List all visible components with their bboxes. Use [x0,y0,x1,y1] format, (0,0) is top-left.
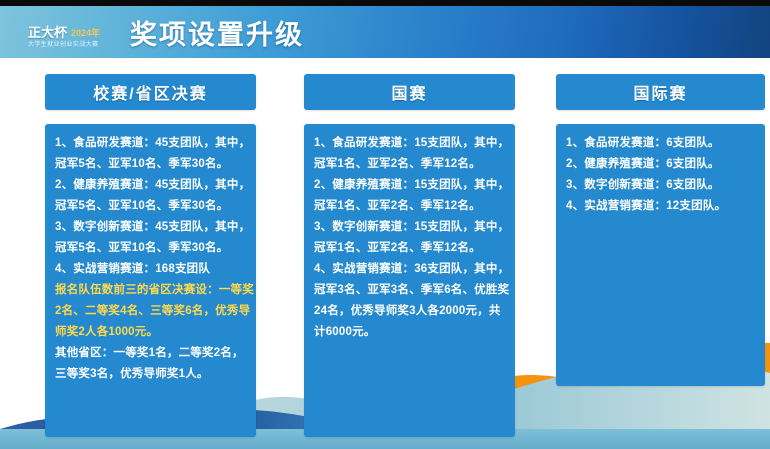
logo-primary-row: 正大杯 2024年 [28,25,124,40]
award-line: 4、实战营销赛道：168支团队 [55,259,246,280]
column-body-international: 1、食品研发赛道：6支团队。 2、健康养殖赛道：6支团队。 3、数字创新赛道：6… [556,124,765,386]
award-line: 4、实战营销赛道：36支团队，其中， [314,259,505,280]
column-heading-label: 国际赛 [633,80,687,104]
award-line: 3、数字创新赛道：6支团队。 [566,175,755,196]
award-columns: 校赛/省区决赛 1、食品研发赛道：45支团队，其中， 冠军5名、亚军10名、季军… [0,58,770,449]
award-line: 冠军3名、亚军3名、季军6名、优胜奖 [314,280,505,301]
award-line: 1、食品研发赛道：6支团队。 [566,133,755,154]
competition-logo: 正大杯 2024年 大学生就业创业实战大赛 [28,20,124,54]
award-line: 冠军5名、亚军10名、季军30名。 [55,238,246,259]
award-line: 冠军5名、亚军10名、季军30名。 [55,196,246,217]
logo-subtitle-text: 大学生就业创业实战大赛 [28,41,124,50]
award-line: 4、实战营销赛道：12支团队。 [566,196,755,217]
slide-header-band: 正大杯 2024年 大学生就业创业实战大赛 奖项设置升级 [0,6,770,58]
award-line: 1、食品研发赛道：15支团队，其中， [314,133,505,154]
slide-body: 校赛/省区决赛 1、食品研发赛道：45支团队，其中， 冠军5名、亚军10名、季军… [0,58,770,449]
column-heading-international: 国际赛 [556,74,765,110]
award-line-highlight: 师奖2人各1000元。 [55,322,246,343]
column-heading-school-province: 校赛/省区决赛 [45,74,256,110]
column-body-school-province: 1、食品研发赛道：45支团队，其中， 冠军5名、亚军10名、季军30名。 2、健… [45,124,256,437]
award-line: 2、健康养殖赛道：15支团队，其中， [314,175,505,196]
column-heading-label: 校赛/省区决赛 [93,80,207,104]
award-line: 冠军1名、亚军2名、季军12名。 [314,196,505,217]
logo-main-text: 正大杯 [28,25,67,40]
logo-year-text: 2024年 [71,28,100,40]
award-line: 1、食品研发赛道：45支团队，其中， [55,133,246,154]
award-line: 2、健康养殖赛道：45支团队，其中， [55,175,246,196]
column-school-province: 校赛/省区决赛 1、食品研发赛道：45支团队，其中， 冠军5名、亚军10名、季军… [45,74,256,437]
page-title: 奖项设置升级 [130,18,304,52]
award-line: 计6000元。 [314,322,505,343]
award-line: 其他省区：一等奖1名，二等奖2名， [55,343,246,364]
column-national: 国赛 1、食品研发赛道：15支团队，其中， 冠军1名、亚军2名、季军12名。 2… [304,74,515,437]
column-body-national: 1、食品研发赛道：15支团队，其中， 冠军1名、亚军2名、季军12名。 2、健康… [304,124,515,437]
award-line: 冠军1名、亚军2名、季军12名。 [314,154,505,175]
award-line: 3、数字创新赛道：15支团队，其中， [314,217,505,238]
slide-canvas: 正大杯 2024年 大学生就业创业实战大赛 奖项设置升级 [0,0,770,449]
award-line-highlight: 2名、二等奖4名、三等奖6名，优秀导 [55,301,246,322]
award-line: 2、健康养殖赛道：6支团队。 [566,154,755,175]
award-line: 三等奖3名，优秀导师奖1人。 [55,364,246,385]
column-international: 国际赛 1、食品研发赛道：6支团队。 2、健康养殖赛道：6支团队。 3、数字创新… [556,74,765,386]
award-line: 冠军5名、亚军10名、季军30名。 [55,154,246,175]
column-heading-national: 国赛 [304,74,515,110]
award-line-highlight: 报名队伍数前三的省区决赛设：一等奖 [55,280,246,301]
award-line: 24名，优秀导师奖3人各2000元，共 [314,301,505,322]
award-line: 冠军1名、亚军2名、季军12名。 [314,238,505,259]
column-heading-label: 国赛 [391,80,427,104]
award-line: 3、数字创新赛道：45支团队，其中， [55,217,246,238]
